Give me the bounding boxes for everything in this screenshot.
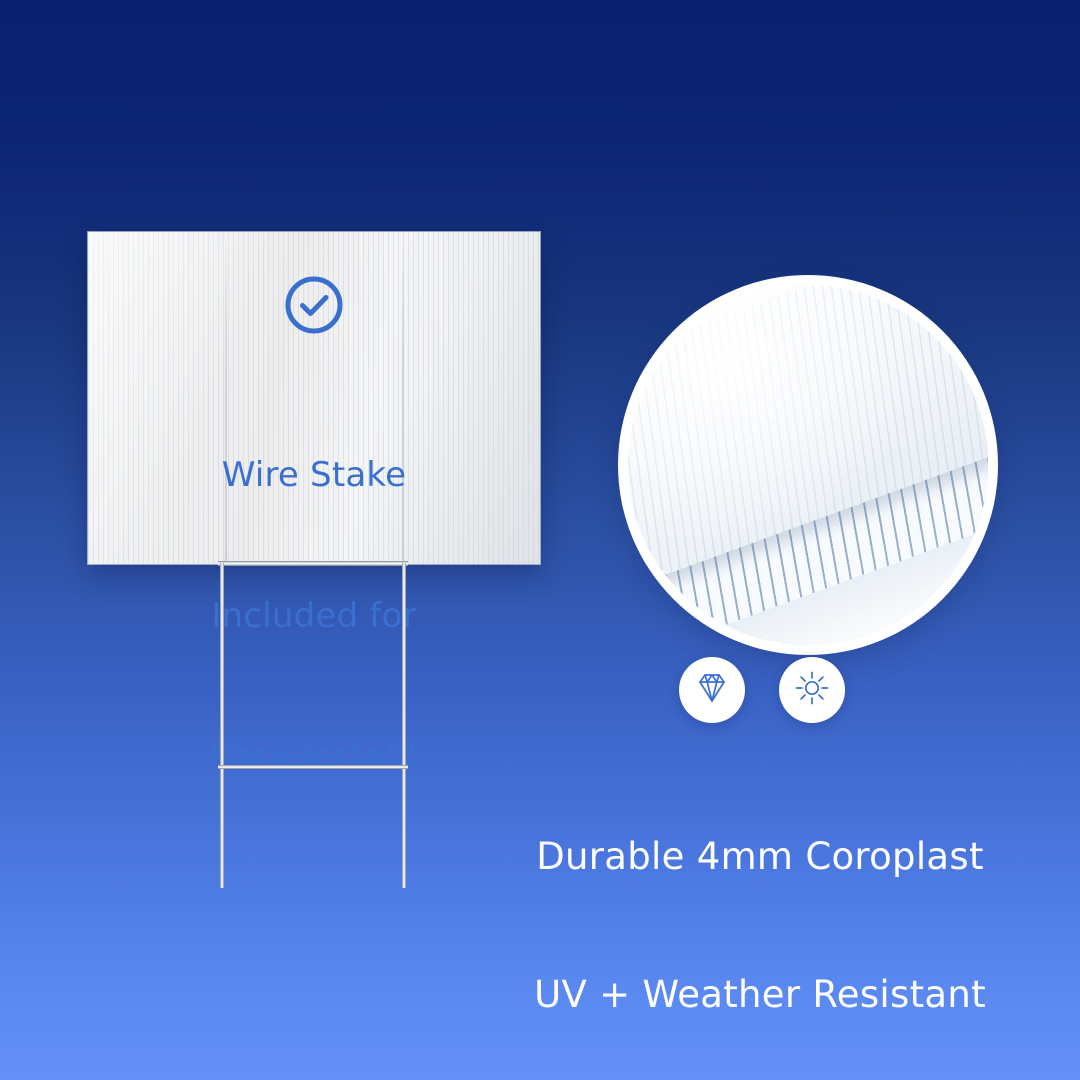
caption-line-1: Durable 4mm Coroplast [480,834,1040,880]
feature-badges [679,657,845,723]
stake-right-leg [402,563,406,888]
sun-icon [792,668,832,712]
coroplast-photo-image [628,285,988,645]
circle-check-icon [283,274,345,340]
product-feature-graphic: Wire Stake Included for Easy Install! [0,0,1080,1080]
sign-headline-line-1: Wire Stake [209,452,419,499]
badge-durable[interactable] [679,657,745,723]
stake-left-leg [220,563,224,888]
coroplast-closeup-photo [628,285,988,645]
wire-h-stake [206,560,420,890]
caption-block: Durable 4mm Coroplast UV + Weather Resis… [480,742,1040,1080]
diamond-icon [692,668,732,712]
badge-uv-resistant[interactable] [779,657,845,723]
caption-line-2: UV + Weather Resistant [480,972,1040,1018]
yard-sign: Wire Stake Included for Easy Install! [88,232,540,564]
stake-crossbar [218,765,408,769]
sign-content: Wire Stake Included for Easy Install! [88,232,540,564]
stake-top-bar [218,561,408,566]
